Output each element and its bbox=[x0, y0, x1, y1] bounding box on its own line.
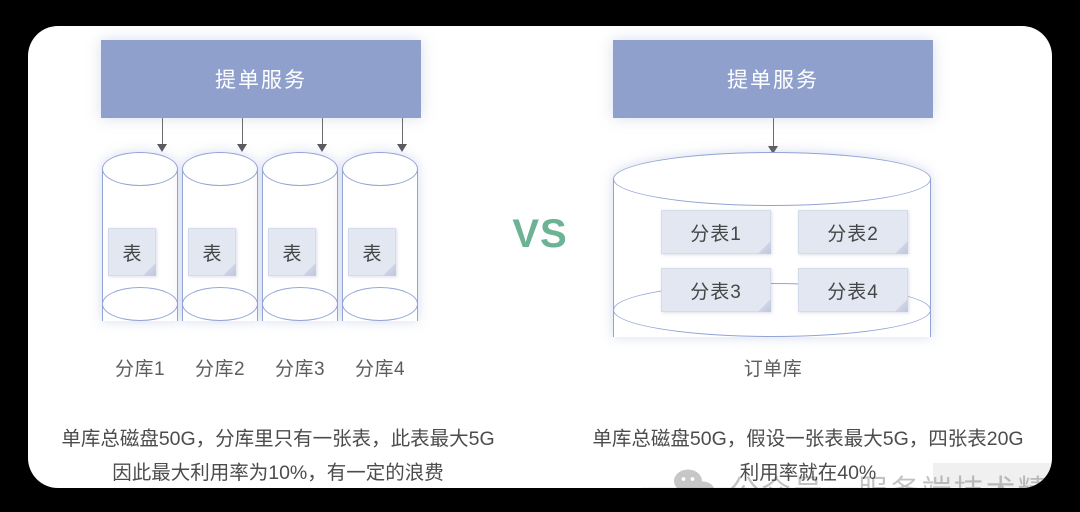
shard-table-note-3: 分表3 bbox=[661, 268, 771, 312]
arrow-head-1 bbox=[157, 144, 167, 152]
database-label-1: 分库1 bbox=[100, 354, 180, 381]
service-box-left: 提单服务 bbox=[101, 40, 421, 118]
cylinder-top-ellipse bbox=[102, 152, 178, 186]
shard-table-note-2-label: 分表2 bbox=[827, 219, 879, 246]
shard-table-note-2: 分表2 bbox=[798, 210, 908, 254]
cylinder-top-ellipse bbox=[613, 152, 931, 206]
database-label-4-text: 分库4 bbox=[355, 359, 405, 380]
arrow-line-right bbox=[773, 118, 774, 148]
watermark-patch bbox=[933, 463, 1051, 488]
caption-left: 单库总磁盘50G，分库里只有一张表，此表最大5G 因此最大利用率为10%，有一定… bbox=[38, 422, 518, 488]
shard-table-note-4-label: 分表4 bbox=[827, 277, 879, 304]
cylinder-top-ellipse bbox=[342, 152, 418, 186]
caption-right-line1: 单库总磁盘50G，假设一张表最大5G，四张表20G bbox=[548, 422, 1052, 456]
shard-table-note-1: 分表1 bbox=[661, 210, 771, 254]
table-note-4-label: 表 bbox=[362, 239, 381, 266]
table-note-3-label: 表 bbox=[282, 239, 301, 266]
database-label-4: 分库4 bbox=[340, 354, 420, 381]
table-note-3: 表 bbox=[268, 228, 316, 276]
arrow-line-4 bbox=[402, 118, 403, 146]
database-label-1-text: 分库1 bbox=[115, 359, 165, 380]
database-label-3: 分库3 bbox=[260, 354, 340, 381]
arrow-line-2 bbox=[242, 118, 243, 146]
table-note-2: 表 bbox=[188, 228, 236, 276]
vs-badge: VS bbox=[490, 212, 590, 257]
screenshot-root: 提单服务 表 分库1 表 bbox=[0, 0, 1080, 512]
cylinder-top-ellipse bbox=[262, 152, 338, 186]
service-box-left-label: 提单服务 bbox=[215, 64, 307, 94]
service-box-right-label: 提单服务 bbox=[727, 64, 819, 94]
shard-table-note-3-label: 分表3 bbox=[690, 277, 742, 304]
arrow-head-2 bbox=[237, 144, 247, 152]
diagram-card: 提单服务 表 分库1 表 bbox=[28, 26, 1052, 488]
database-label-3-text: 分库3 bbox=[275, 359, 325, 380]
database-label-2: 分库2 bbox=[180, 354, 260, 381]
cylinder-top-ellipse bbox=[182, 152, 258, 186]
shard-table-note-4: 分表4 bbox=[798, 268, 908, 312]
caption-left-line1: 单库总磁盘50G，分库里只有一张表，此表最大5G bbox=[38, 422, 518, 456]
table-note-1: 表 bbox=[108, 228, 156, 276]
service-box-right: 提单服务 bbox=[613, 40, 933, 118]
arrow-head-4 bbox=[397, 144, 407, 152]
database-label-2-text: 分库2 bbox=[195, 359, 245, 380]
vs-label: VS bbox=[512, 212, 567, 256]
arrow-head-3 bbox=[317, 144, 327, 152]
cylinder-bottom-ellipse bbox=[102, 287, 178, 321]
cylinder-bottom-ellipse bbox=[182, 287, 258, 321]
table-note-2-label: 表 bbox=[202, 239, 221, 266]
order-database-label-text: 订单库 bbox=[744, 359, 803, 380]
order-database-cylinder bbox=[613, 152, 931, 364]
caption-left-line2: 因此最大利用率为10%，有一定的浪费 bbox=[38, 456, 518, 488]
cylinder-bottom-ellipse bbox=[262, 287, 338, 321]
table-note-1-label: 表 bbox=[122, 239, 141, 266]
cylinder-bottom-ellipse bbox=[342, 287, 418, 321]
arrow-line-3 bbox=[322, 118, 323, 146]
arrow-line-1 bbox=[162, 118, 163, 146]
shard-table-note-1-label: 分表1 bbox=[690, 219, 742, 246]
table-note-4: 表 bbox=[348, 228, 396, 276]
order-database-label: 订单库 bbox=[673, 354, 873, 381]
